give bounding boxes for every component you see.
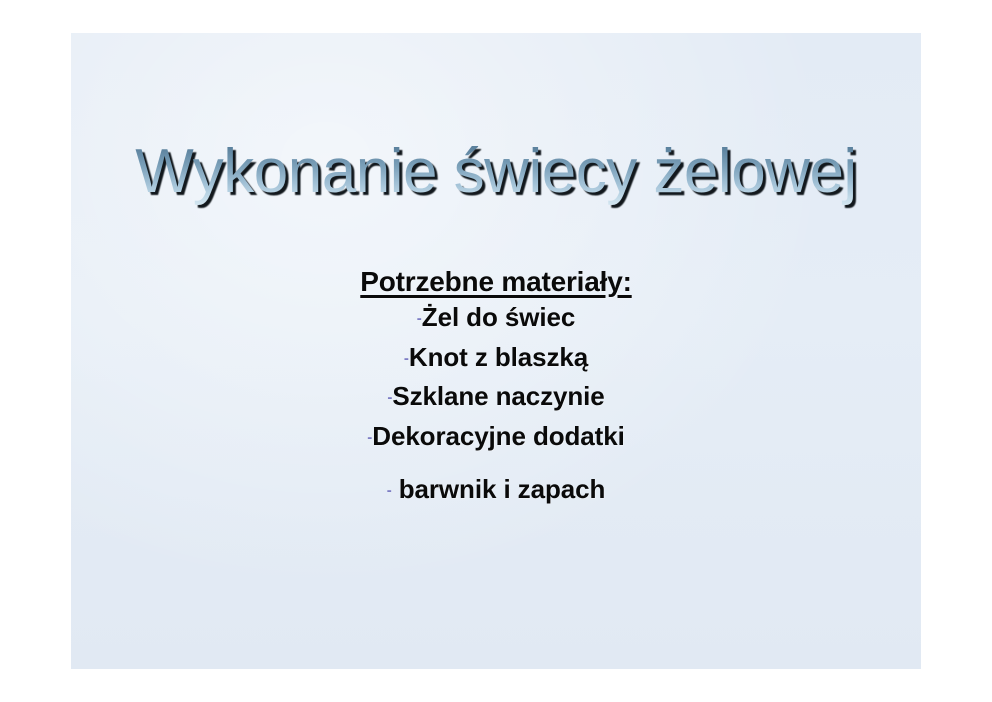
list-item: -Żel do świec xyxy=(71,298,921,338)
list-item: -Dekoracyjne dodatki xyxy=(71,417,921,457)
slide-body: Potrzebne materiały: -Żel do świec -Knot… xyxy=(71,265,921,510)
slide-title-text: Wykonanie świecy żelowej xyxy=(135,137,856,206)
presentation-page: Wykonanie świecy żelowej Wykonanie świec… xyxy=(0,0,992,702)
list-item: -Knot z blaszką xyxy=(71,338,921,378)
list-item-label: Dekoracyjne dodatki xyxy=(372,421,624,451)
slide-title-container: Wykonanie świecy żelowej Wykonanie świec… xyxy=(71,141,921,203)
materials-heading: Potrzebne materiały: xyxy=(360,265,631,298)
list-item-label: Knot z blaszką xyxy=(409,342,588,372)
list-item: -Szklane naczynie xyxy=(71,377,921,417)
materials-heading-row: Potrzebne materiały: xyxy=(71,265,921,298)
bullet-dash-icon: - xyxy=(387,482,392,499)
list-item: -barwnik i zapach xyxy=(71,470,921,510)
list-item-label: barwnik i zapach xyxy=(399,474,605,504)
list-item-label: Szklane naczynie xyxy=(392,381,604,411)
slide-title: Wykonanie świecy żelowej Wykonanie świec… xyxy=(135,141,856,203)
list-item-label: Żel do świec xyxy=(422,302,575,332)
slide-canvas: Wykonanie świecy żelowej Wykonanie świec… xyxy=(71,33,921,669)
